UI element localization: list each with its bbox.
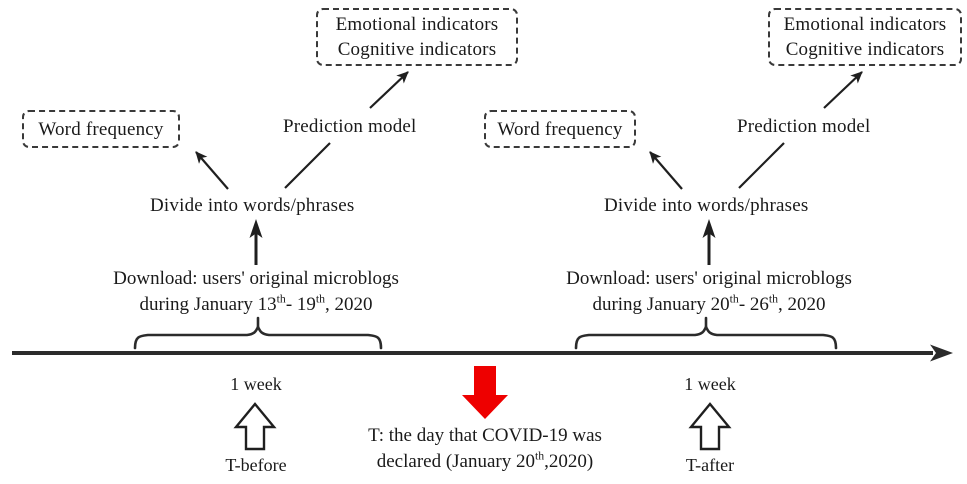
diagram-vector-layer xyxy=(0,0,967,484)
covid-event-caption: T: the day that COVID-19 was declared (J… xyxy=(340,423,630,475)
right-download-date-mid: - 26 xyxy=(739,294,769,315)
left-indicators-box: Emotional indicators Cognitive indicator… xyxy=(316,8,518,66)
left-divide-to-wordfreq-arrow xyxy=(196,152,228,189)
right-download-date-suffix: , 2020 xyxy=(778,294,826,315)
t-before-label: T-before xyxy=(201,455,311,476)
t-before-hollow-arrow xyxy=(236,404,274,449)
left-divide-label: Divide into words/phrases xyxy=(150,193,354,218)
left-download-line1: Download: users' original microblogs xyxy=(96,266,416,292)
right-emotional-indicators-label: Emotional indicators xyxy=(784,12,947,37)
left-download-date-prefix: during January 13 xyxy=(139,294,276,315)
t-after-label: T-after xyxy=(660,455,760,476)
left-week-label: 1 week xyxy=(206,374,306,395)
left-week-brace xyxy=(135,318,381,348)
right-download-line1: Download: users' original microblogs xyxy=(549,266,869,292)
right-divide-to-prediction-line xyxy=(739,143,784,188)
left-prediction-to-indicators-arrow xyxy=(370,72,408,108)
left-prediction-model-label: Prediction model xyxy=(283,114,417,139)
right-download-sup-2: th xyxy=(769,293,778,306)
right-prediction-model-label: Prediction model xyxy=(737,114,871,139)
right-cognitive-indicators-label: Cognitive indicators xyxy=(786,37,945,62)
right-prediction-to-indicators-arrow xyxy=(824,72,862,108)
right-word-frequency-box: Word frequency xyxy=(484,110,636,148)
left-download-sup-2: th xyxy=(316,293,325,306)
left-download-sup-1: th xyxy=(277,293,286,306)
covid-event-line2: declared (January 20th,2020) xyxy=(340,449,630,475)
right-week-label: 1 week xyxy=(660,374,760,395)
left-download-date-suffix: , 2020 xyxy=(325,294,373,315)
right-download-line2: during January 20th- 26th, 2020 xyxy=(549,292,869,318)
covid-event-red-arrow xyxy=(462,366,508,419)
right-divide-label: Divide into words/phrases xyxy=(604,193,808,218)
covid-event-line2-prefix: declared (January 20 xyxy=(377,451,535,472)
covid-event-line2-suffix: ,2020) xyxy=(544,451,593,472)
left-emotional-indicators-label: Emotional indicators xyxy=(336,12,499,37)
right-download-to-divide-arrow xyxy=(703,219,716,265)
t-after-hollow-arrow xyxy=(691,404,729,449)
left-download-date-mid: - 19 xyxy=(286,294,316,315)
left-cognitive-indicators-label: Cognitive indicators xyxy=(338,37,497,62)
right-word-frequency-label: Word frequency xyxy=(497,117,622,142)
right-download-sup-1: th xyxy=(730,293,739,306)
left-divide-to-prediction-line xyxy=(285,143,330,188)
right-divide-to-wordfreq-arrow xyxy=(650,152,682,189)
left-download-to-divide-arrow xyxy=(250,219,263,265)
timeline-diagram: Word frequency Emotional indicators Cogn… xyxy=(0,0,967,484)
right-indicators-box: Emotional indicators Cognitive indicator… xyxy=(768,8,962,66)
left-word-frequency-label: Word frequency xyxy=(38,117,163,142)
time-axis xyxy=(12,345,953,362)
right-week-brace xyxy=(576,318,836,348)
right-download-date-prefix: during January 20 xyxy=(592,294,729,315)
left-download-block: Download: users' original microblogs dur… xyxy=(96,266,416,318)
left-download-line2: during January 13th- 19th, 2020 xyxy=(96,292,416,318)
covid-event-sup: th xyxy=(535,450,544,463)
left-word-frequency-box: Word frequency xyxy=(22,110,180,148)
covid-event-line1: T: the day that COVID-19 was xyxy=(340,423,630,449)
right-download-block: Download: users' original microblogs dur… xyxy=(549,266,869,318)
